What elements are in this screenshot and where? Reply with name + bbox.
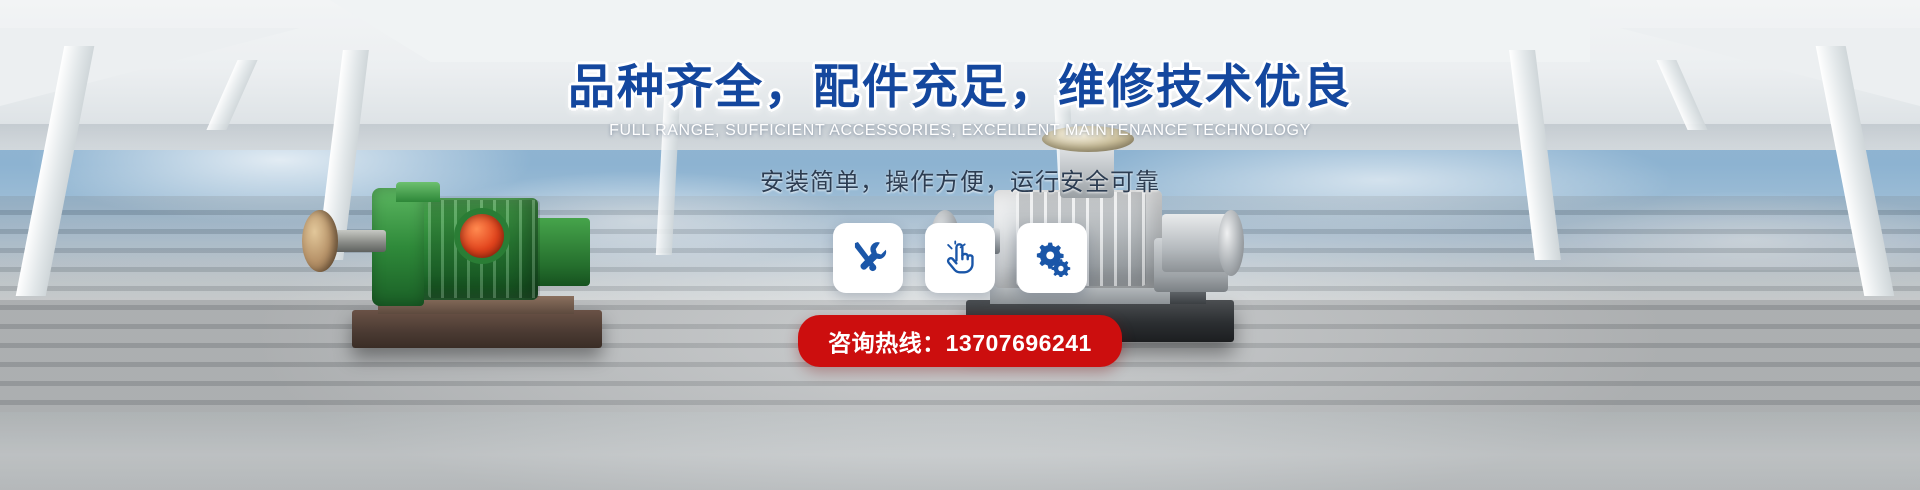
feature-icon-tools[interactable] — [833, 223, 903, 293]
hand-touch-icon — [941, 239, 979, 277]
feature-icon-gears[interactable] — [1017, 223, 1087, 293]
hotline-badge[interactable]: 咨询热线：13707696241 — [798, 315, 1122, 367]
hotline-text: 咨询热线：13707696241 — [828, 324, 1092, 358]
product-hero-banner: 品种齐全，配件充足，维修技术优良 FULL RANGE, SUFFICIENT … — [0, 0, 1920, 490]
banner-subtitle-chinese: 安装简单，操作方便，运行安全可靠 — [760, 162, 1160, 197]
gears-icon — [1033, 239, 1071, 277]
banner-content: 品种齐全，配件充足，维修技术优良 FULL RANGE, SUFFICIENT … — [0, 0, 1920, 490]
tools-icon — [849, 239, 887, 277]
banner-headline: 品种齐全，配件充足，维修技术优良 — [568, 62, 1352, 113]
banner-subtitle-english: FULL RANGE, SUFFICIENT ACCESSORIES, EXCE… — [609, 122, 1311, 140]
feature-icon-hand-touch[interactable] — [925, 223, 995, 293]
feature-icon-row — [833, 223, 1087, 293]
